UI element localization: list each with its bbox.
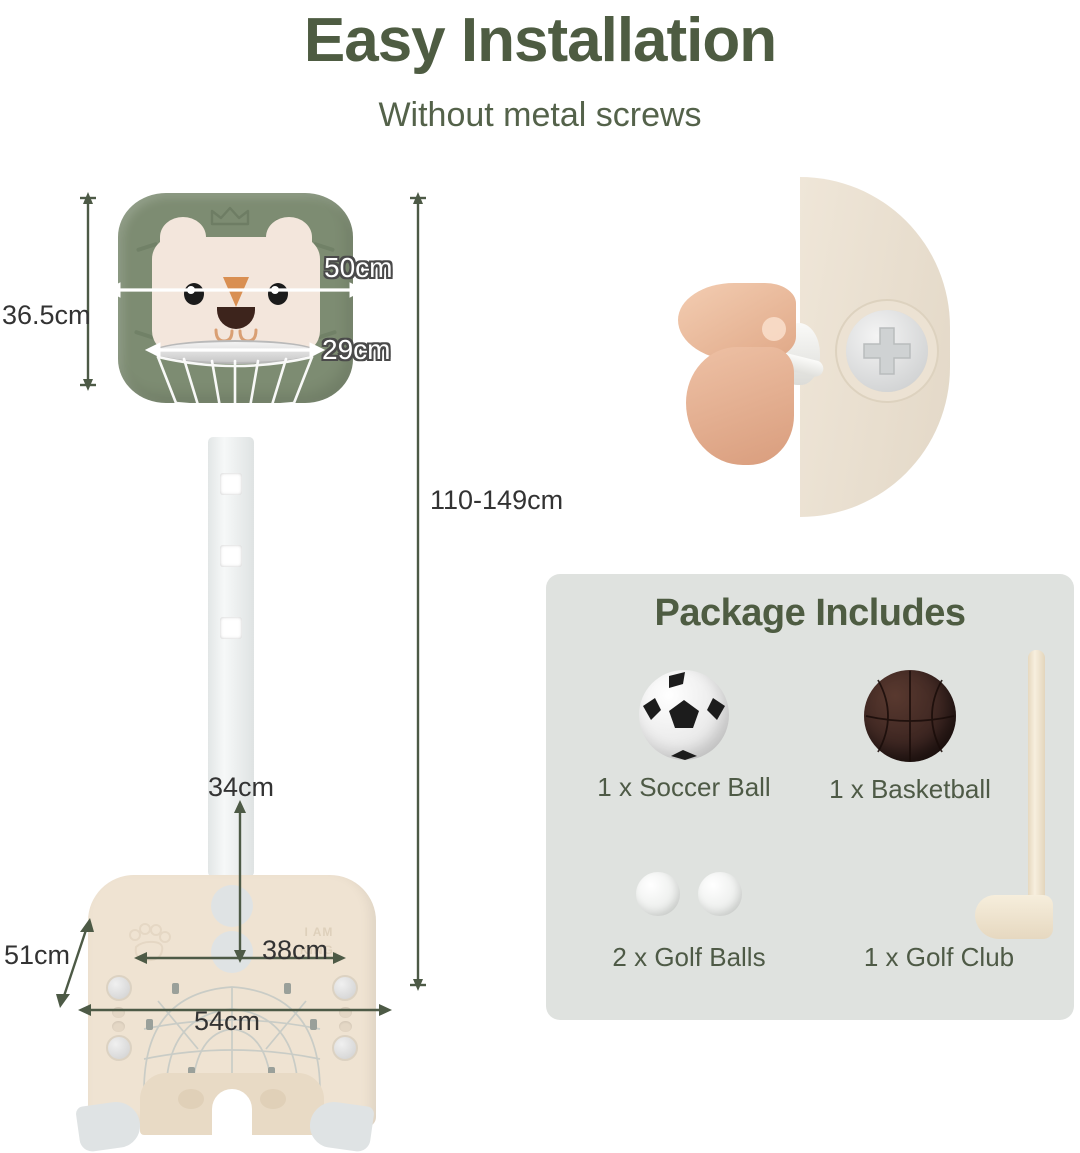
base-dimple [339,1021,352,1032]
dim-rim-diameter: 29cm [322,334,390,366]
package-title: Package Includes [546,574,1074,635]
golf-club-head [975,895,1053,939]
bear-mouth [217,307,255,329]
golf-ball [636,872,680,916]
dim-goal-width: 38cm [262,935,328,966]
pole-adjust-hole [220,545,242,567]
base-dimple [339,1007,352,1018]
pole-adjust-hole [220,617,242,639]
package-item-basketball: 1 x Basketball [800,670,1020,805]
hand-finger [686,347,794,465]
dim-base-depth: 51cm [4,940,70,971]
base-foot-right [307,1099,375,1153]
arch-dimple-left [178,1089,204,1109]
page-title: Easy Installation [0,0,1080,72]
package-item-golf-balls: 2 x Golf Balls [574,872,804,973]
dim-base-width: 54cm [194,1006,260,1037]
bear-eye-right [268,283,288,305]
package-includes-panel: Package Includes 1 x Soccer Ball [546,574,1074,1020]
thumb-nail [762,317,786,341]
telescoping-pole [208,437,254,877]
bear-nose [223,277,249,307]
base-knob-upper [211,885,253,927]
bear-face [152,237,320,353]
arch-dimple-right [260,1089,286,1109]
golf-club-shaft [1028,650,1045,912]
package-item-label: 1 x Basketball [800,774,1020,805]
bear-eye-left [184,283,204,305]
header-block: Easy Installation Without metal screws [0,0,1080,135]
installation-photo [650,165,1030,545]
bear-ear-right [266,217,312,257]
dim-goal-height: 34cm [208,772,274,803]
package-item-label: 1 x Soccer Ball [574,772,794,803]
soccer-ball-icon [639,670,729,760]
cross-head-screw-icon [846,310,928,392]
bear-ear-left [160,217,206,257]
base-dimple [112,1007,125,1018]
package-item-label: 1 x Golf Club [814,942,1064,973]
golf-ball [698,872,742,916]
page-subtitle: Without metal screws [0,72,1080,135]
golf-balls-icon [574,872,804,928]
dim-total-height: 110-149cm [430,485,563,516]
base-dimple [112,1021,125,1032]
arch-cutout [212,1089,252,1135]
package-item-label: 2 x Golf Balls [574,942,804,973]
phillips-cross-icon [846,310,928,392]
base-inner-arch [140,1073,324,1135]
dim-backboard-width: 50cm [324,252,392,284]
crown-icon [210,206,262,226]
base-knob-lower [211,931,253,973]
base-unit: I AM KING. [88,875,376,1127]
basketball-icon [864,670,956,762]
package-item-soccer-ball: 1 x Soccer Ball [574,670,794,803]
paw-print-icon [126,923,172,963]
dim-backboard-height: 36.5cm [2,300,91,331]
pole-adjust-hole [220,473,242,495]
